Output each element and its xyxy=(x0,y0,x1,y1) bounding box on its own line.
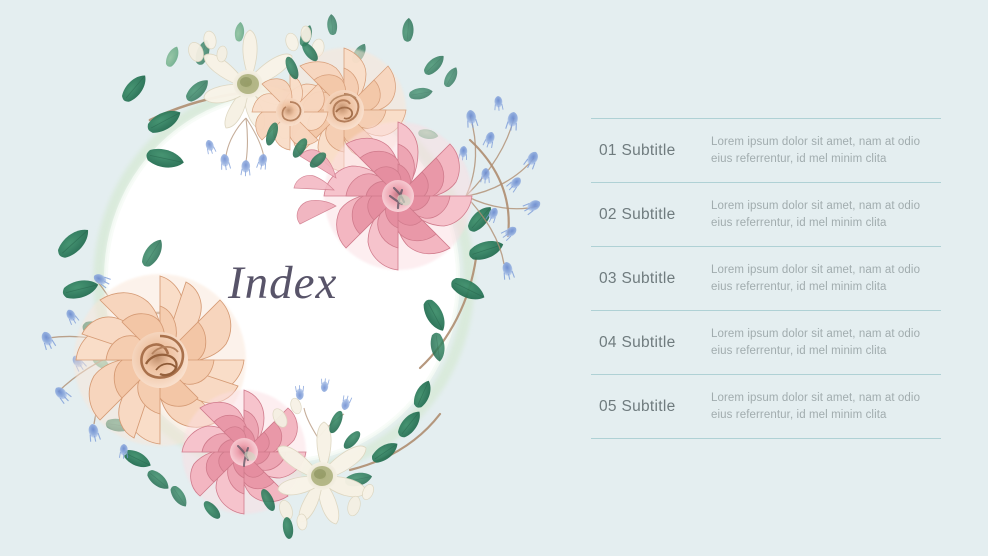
description-line-2: eius referrentur, id mel minim clita xyxy=(711,407,941,424)
list-item[interactable]: 05 Subtitle Lorem ipsum dolor sit amet, … xyxy=(591,375,941,438)
list-item-description: Lorem ipsum dolor sit amet, nam at odio … xyxy=(711,326,941,360)
list-item[interactable]: 01 Subtitle Lorem ipsum dolor sit amet, … xyxy=(591,119,941,182)
list-item-number: 03 Subtitle xyxy=(591,270,711,288)
list-item-number: 04 Subtitle xyxy=(591,334,711,352)
description-line-1: Lorem ipsum dolor sit amet, nam at odio xyxy=(711,134,941,151)
description-line-2: eius referrentur, id mel minim clita xyxy=(711,215,941,232)
list-divider xyxy=(591,182,941,183)
slide-canvas: Index 01 Subtitle Lorem ipsum dolor sit … xyxy=(0,0,988,556)
description-line-2: eius referrentur, id mel minim clita xyxy=(711,279,941,296)
description-line-2: eius referrentur, id mel minim clita xyxy=(711,343,941,360)
list-item[interactable]: 02 Subtitle Lorem ipsum dolor sit amet, … xyxy=(591,183,941,246)
list-item-number: 01 Subtitle xyxy=(591,142,711,160)
description-line-1: Lorem ipsum dolor sit amet, nam at odio xyxy=(711,198,941,215)
description-line-1: Lorem ipsum dolor sit amet, nam at odio xyxy=(711,326,941,343)
page-title: Index xyxy=(228,255,448,311)
list-item-description: Lorem ipsum dolor sit amet, nam at odio … xyxy=(711,262,941,296)
list-item-number: 05 Subtitle xyxy=(591,398,711,416)
list-item-description: Lorem ipsum dolor sit amet, nam at odio … xyxy=(711,390,941,424)
description-line-1: Lorem ipsum dolor sit amet, nam at odio xyxy=(711,390,941,407)
list-item[interactable]: 03 Subtitle Lorem ipsum dolor sit amet, … xyxy=(591,247,941,310)
description-line-2: eius referrentur, id mel minim clita xyxy=(711,151,941,168)
list-divider xyxy=(591,374,941,375)
list-item-description: Lorem ipsum dolor sit amet, nam at odio … xyxy=(711,198,941,232)
list-item-description: Lorem ipsum dolor sit amet, nam at odio … xyxy=(711,134,941,168)
index-list: 01 Subtitle Lorem ipsum dolor sit amet, … xyxy=(591,118,941,439)
list-item-number: 02 Subtitle xyxy=(591,206,711,224)
list-divider-top xyxy=(591,118,941,119)
list-divider xyxy=(591,310,941,311)
description-line-1: Lorem ipsum dolor sit amet, nam at odio xyxy=(711,262,941,279)
list-item[interactable]: 04 Subtitle Lorem ipsum dolor sit amet, … xyxy=(591,311,941,374)
list-divider xyxy=(591,246,941,247)
list-divider-bottom xyxy=(591,438,941,439)
